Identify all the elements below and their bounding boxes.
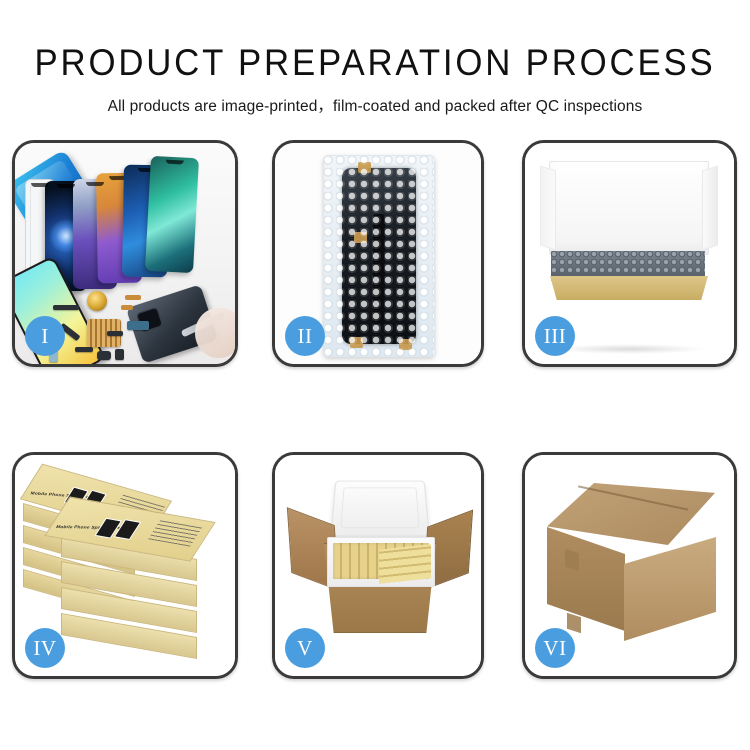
tape-icon <box>358 162 371 173</box>
foam-lid-icon <box>330 481 430 537</box>
tape-icon <box>399 339 412 350</box>
bubble-wrap-bag-icon <box>323 155 435 357</box>
flex-cable-icon <box>107 331 123 336</box>
screen-inside-bag-icon <box>342 168 416 344</box>
step-badge-1: I <box>25 316 65 356</box>
packed-boxes-row-icon <box>379 544 431 583</box>
step-badge-6: VI <box>535 628 575 668</box>
process-step-panel-6[interactable]: VI <box>522 452 737 679</box>
camera-module-icon <box>115 349 124 360</box>
step-badge-5: V <box>285 628 325 668</box>
step-badge-3: III <box>535 316 575 356</box>
hand-icon <box>195 308 238 358</box>
step-badge-4: IV <box>25 628 65 668</box>
gold-contact-icon <box>121 305 133 310</box>
carton-left-face <box>547 527 625 631</box>
product-preparation-infographic: PRODUCT PREPARATION PROCESS All products… <box>0 0 750 750</box>
carton-top-face <box>547 483 715 545</box>
flex-strip-icon <box>373 214 385 324</box>
process-step-panel-1[interactable]: I <box>12 140 238 367</box>
box-spec-text <box>148 519 203 546</box>
process-step-panel-3[interactable]: III <box>522 140 737 367</box>
gold-contact-icon <box>125 295 141 300</box>
connector-icon <box>127 321 149 330</box>
kraft-tray-front-icon <box>545 276 713 300</box>
white-box-lid-icon <box>549 161 709 255</box>
tape-icon <box>350 337 363 348</box>
process-step-grid: I II <box>0 0 750 750</box>
carton-right-face <box>624 537 716 641</box>
carton-tape-tab <box>567 613 581 634</box>
process-step-panel-2[interactable]: II <box>272 140 484 367</box>
drop-shadow <box>555 344 705 354</box>
phone-teal-icon <box>145 156 199 273</box>
vibration-motor-icon <box>87 291 107 311</box>
process-step-panel-5[interactable]: V <box>272 452 484 679</box>
speaker-module-icon <box>97 351 111 360</box>
step-badge-2: II <box>285 316 325 356</box>
flex-cable-icon <box>75 347 93 352</box>
process-step-panel-4[interactable]: Mobile Phone Spare Parts Mobile Phone Sp… <box>12 452 238 679</box>
flex-cable-icon <box>53 305 79 310</box>
tape-icon <box>354 232 367 243</box>
